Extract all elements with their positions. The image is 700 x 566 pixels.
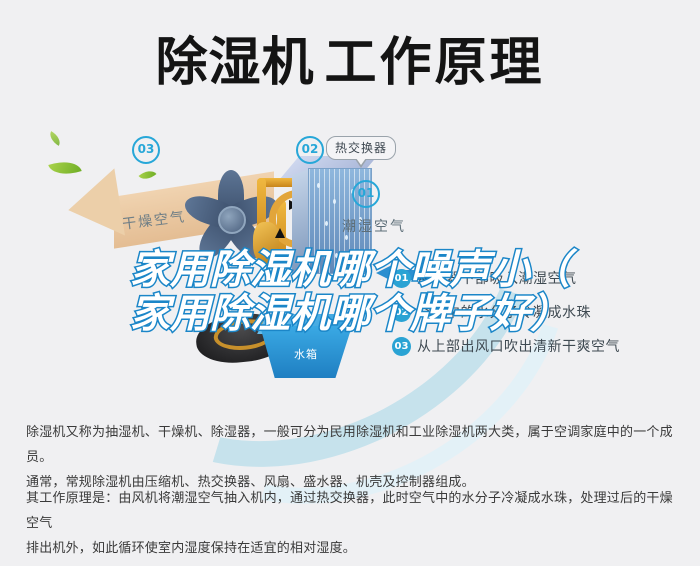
badge-01: 01 xyxy=(352,180,380,208)
step-number-badge: 02 xyxy=(392,303,411,322)
condensation-droplet xyxy=(325,221,328,226)
callout-tail xyxy=(355,159,367,168)
condensation-droplet xyxy=(335,253,338,258)
water-tank-label: 水箱 xyxy=(294,346,318,362)
step-number-badge: 03 xyxy=(392,337,411,356)
paragraph-line: 除湿机又称为抽湿机、干燥机、除湿器，一般可分为民用除湿机和工业除湿机两大类，属于… xyxy=(26,420,678,470)
paragraph-line: 排出机外，如此循环使室内湿度保持在适宜的相对湿度。 xyxy=(26,536,678,561)
condensation-droplet xyxy=(333,199,336,204)
flow-arrow-up-icon xyxy=(275,228,285,238)
process-step-item: 01 从机器下部吸入潮湿空气 xyxy=(392,268,692,288)
step-text: 从机器下部吸入潮湿空气 xyxy=(417,268,577,288)
process-step-item: 02 空气中的水分子冷凝成水珠 xyxy=(392,302,692,322)
heat-exchanger-callout: 热交换器 xyxy=(326,136,396,160)
process-step-item: 03 从上部出风口吹出清新干爽空气 xyxy=(392,336,692,356)
water-tank-icon: 水箱 xyxy=(258,314,358,386)
step-text: 从上部出风口吹出清新干爽空气 xyxy=(417,336,620,356)
fan-hub xyxy=(218,206,246,234)
badge-02: 02 xyxy=(296,136,324,164)
page-root: 除湿机工作原理 干燥空气 03 xyxy=(0,0,700,566)
dehumidifier-diagram: 干燥空气 03 xyxy=(0,118,700,398)
condensation-droplet xyxy=(317,183,320,188)
step-number-badge: 01 xyxy=(392,269,411,288)
description-paragraph-1: 除湿机又称为抽湿机、干燥机、除湿器，一般可分为民用除湿机和工业除湿机两大类，属于… xyxy=(26,420,678,495)
arrow-head xyxy=(376,265,392,281)
description-paragraph-2: 其工作原理是：由风机将潮湿空气抽入机内，通过热交换器，此时空气中的水分子冷凝成水… xyxy=(26,486,678,561)
title-part-1: 除湿机 xyxy=(155,33,314,93)
arrow-head xyxy=(63,168,125,243)
paragraph-line: 其工作原理是：由风机将潮湿空气抽入机内，通过热交换器，此时空气中的水分子冷凝成水… xyxy=(26,486,678,536)
heat-exchanger-callout-label: 热交换器 xyxy=(335,141,387,155)
process-steps-list: 01 从机器下部吸入潮湿空气 02 空气中的水分子冷凝成水珠 03 从上部出风口… xyxy=(392,268,692,370)
page-title: 除湿机工作原理 xyxy=(0,34,700,92)
badge-03: 03 xyxy=(132,136,160,164)
humid-air-label: 潮湿空气 xyxy=(342,216,406,236)
leaf-icon xyxy=(47,131,64,146)
step-text: 空气中的水分子冷凝成水珠 xyxy=(417,302,591,322)
